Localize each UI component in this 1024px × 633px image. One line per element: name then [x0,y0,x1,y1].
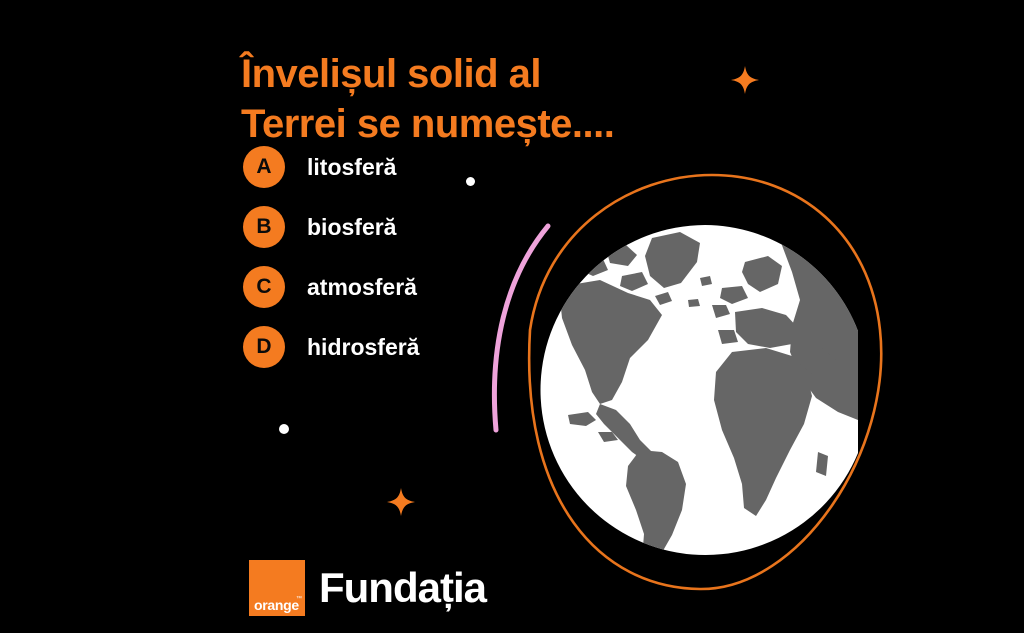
brand-lockup: orange ™ Fundația [249,560,486,616]
answer-option-a[interactable]: A litosferă [243,146,543,188]
quiz-slide: Învelișul solid al Terrei se numește....… [0,0,1024,633]
option-label-d: hidrosferă [307,334,419,361]
option-label-b: biosferă [307,214,396,241]
option-letter-badge-c: C [243,266,285,308]
option-letter-badge-d: D [243,326,285,368]
trademark-icon: ™ [296,596,302,602]
orange-logo-mark: orange ™ [249,560,305,616]
answer-options-list: A litosferă B biosferă C atmosferă D hid… [243,146,543,386]
option-label-c: atmosferă [307,274,417,301]
sparkle-icon-bottom-left [387,488,415,516]
option-label-a: litosferă [307,154,396,181]
answer-option-b[interactable]: B biosferă [243,206,543,248]
sparkle-icon-top-right [731,66,759,94]
foundation-name: Fundația [319,567,486,609]
option-letter-badge-a: A [243,146,285,188]
earth-globe [541,225,858,570]
star-dot-lower [279,424,289,434]
option-letter-badge-b: B [243,206,285,248]
page-title: Învelișul solid al Terrei se numește.... [241,49,711,149]
orange-logo-wordmark: orange [254,598,299,612]
answer-option-d[interactable]: D hidrosferă [243,326,543,368]
answer-option-c[interactable]: C atmosferă [243,266,543,308]
